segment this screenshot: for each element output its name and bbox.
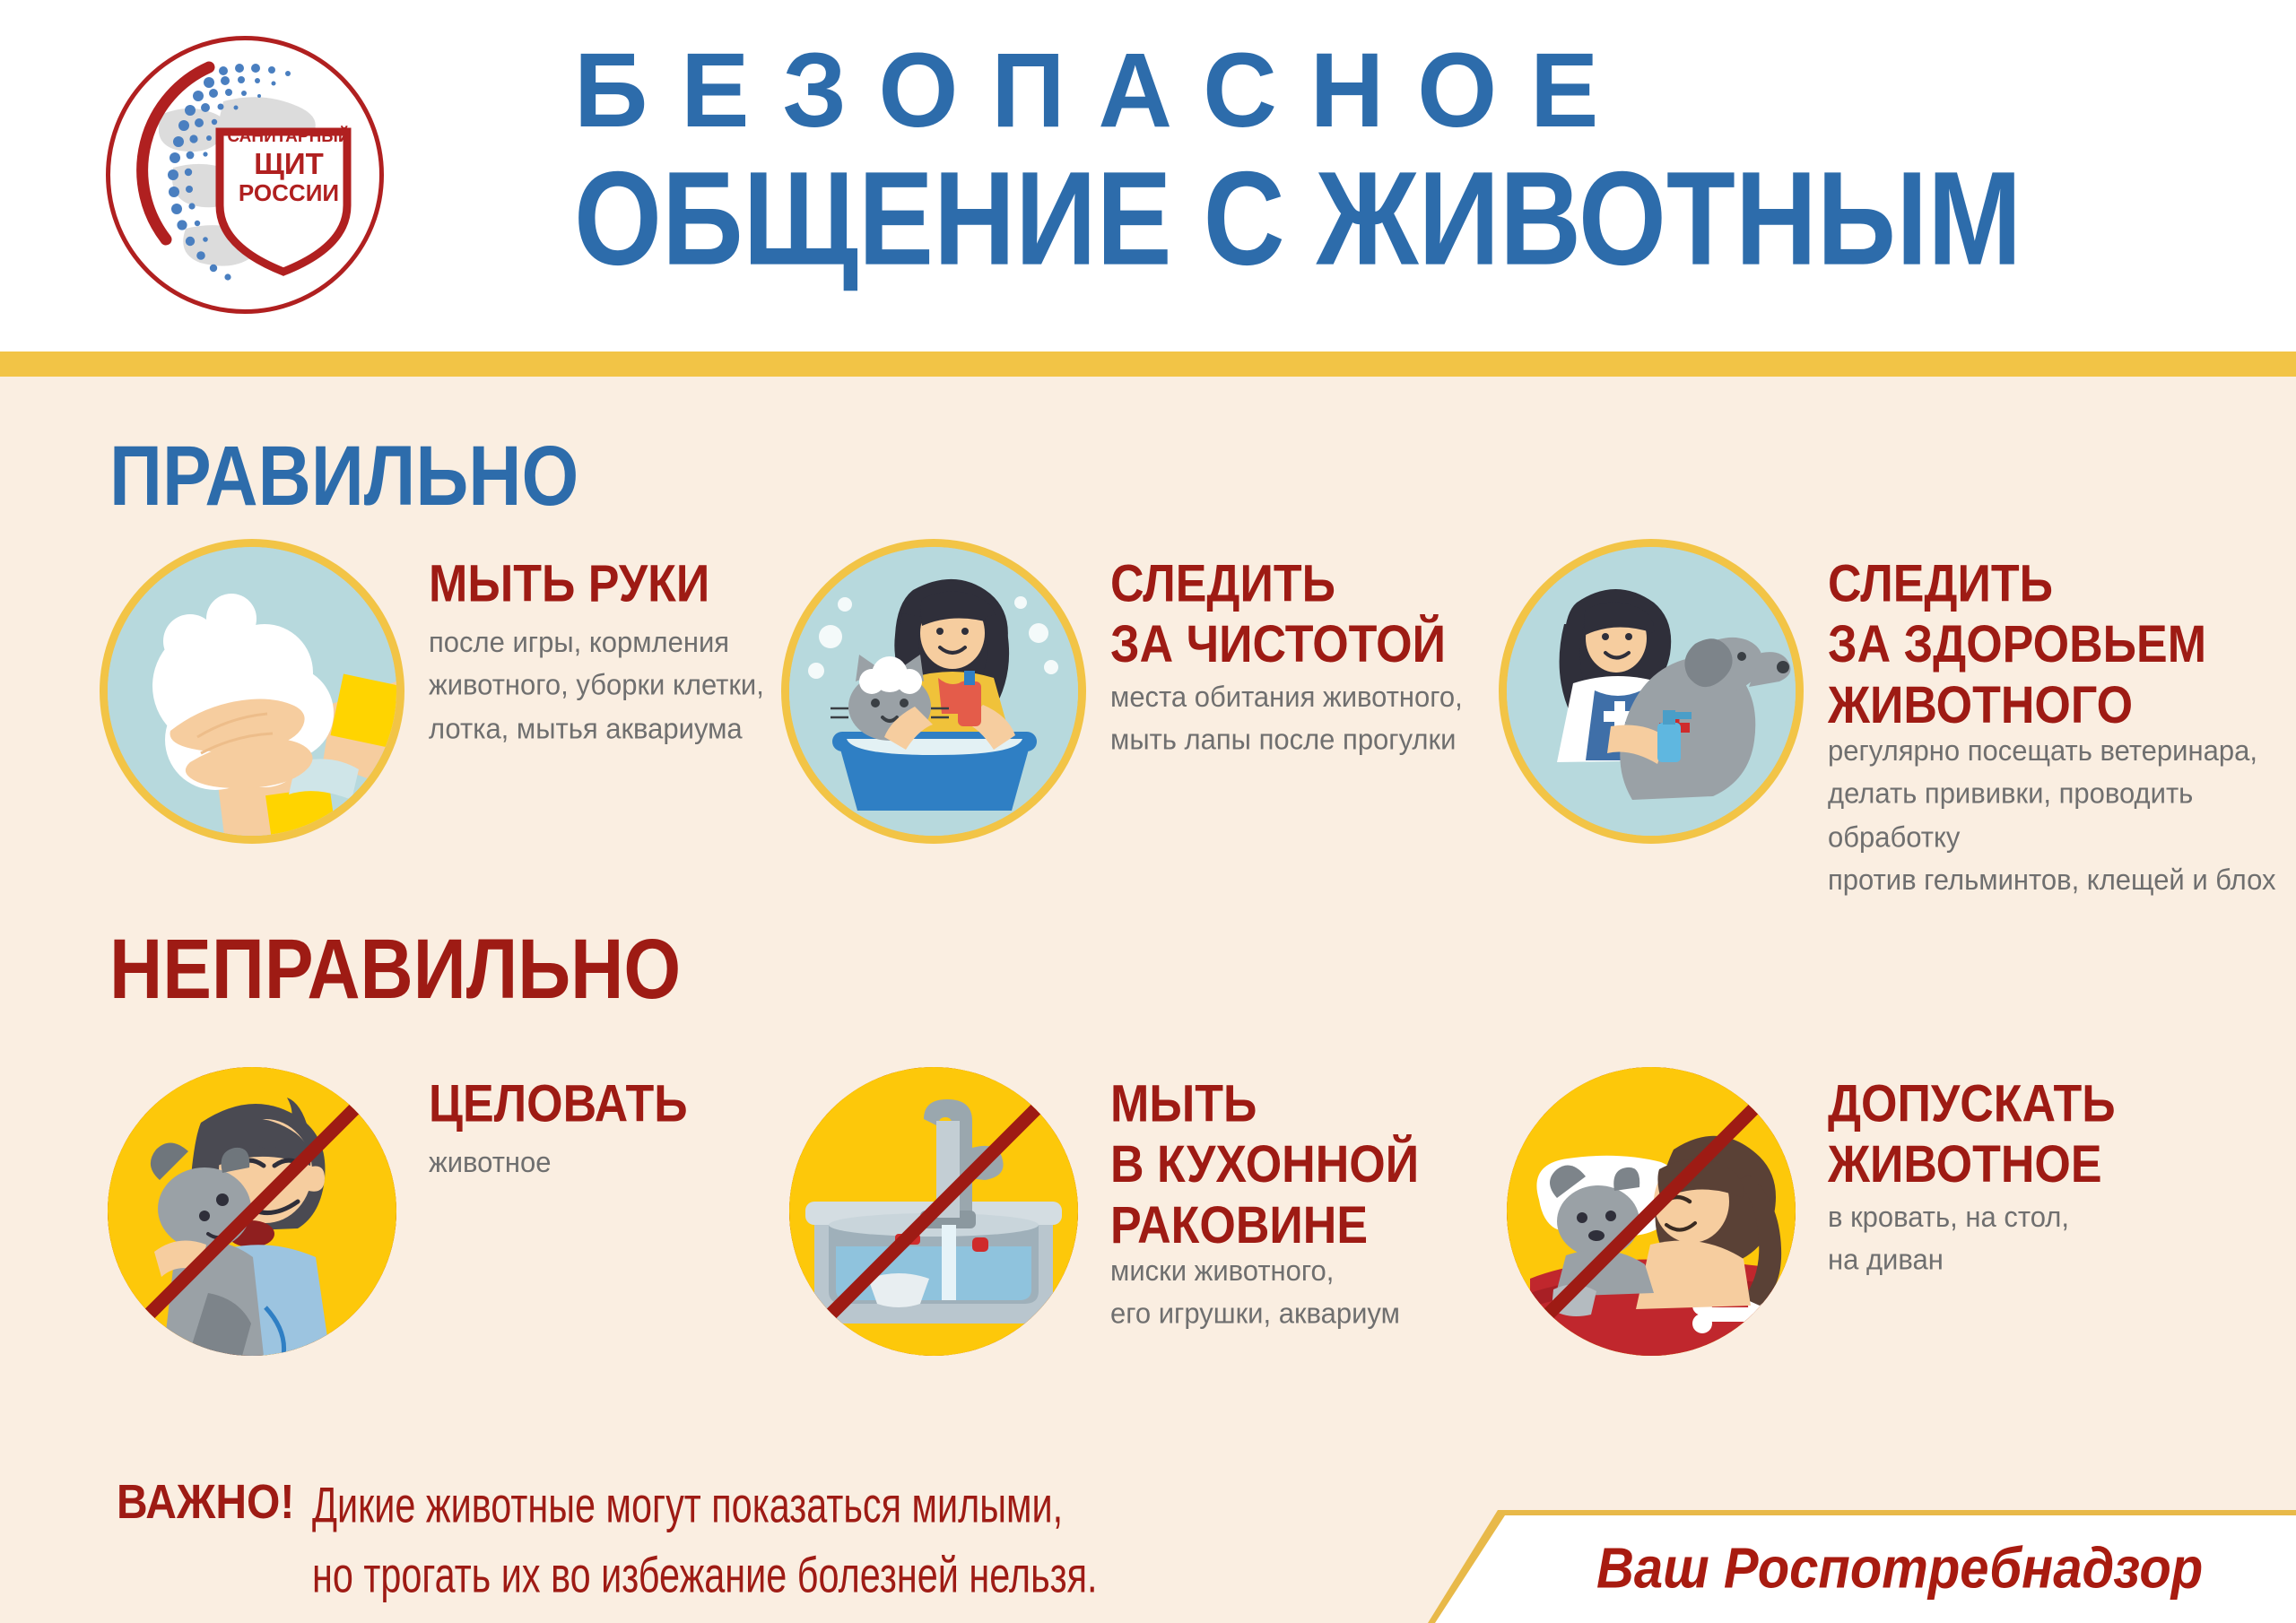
card-title: ЦЕЛОВАТЬ [429, 1074, 805, 1135]
veterinarian-with-dog-icon [1507, 547, 1796, 836]
important-label: ВАЖНО! [117, 1475, 294, 1531]
card-subtitle: места обитания животного, мыть лапы посл… [1110, 675, 1505, 761]
card-title: СЛЕДИТЬ ЗА ЧИСТОТОЙ [1110, 554, 1505, 675]
footer-brand-text: Ваш Роспотребнадзор [1596, 1535, 2203, 1601]
card-title: МЫТЬ РУКИ [429, 554, 823, 615]
washing-hands-with-soap-icon [108, 547, 396, 836]
card-subtitle: в кровать, на стол, на диван [1828, 1195, 2276, 1281]
logo-text-line1: САНИТАРНЫЙ [222, 128, 356, 145]
poster-title: БЕЗОПАСНОЕ ОБЩЕНИЕ С ЖИВОТНЫМ [574, 38, 2206, 267]
card-title: ДОПУСКАТЬ ЖИВОТНОЕ [1828, 1074, 2276, 1195]
important-note: ВАЖНО! Дикие животные могут показаться м… [117, 1471, 1283, 1588]
important-text: Дикие животные могут показаться милыми, … [312, 1471, 1098, 1611]
woman-sleeping-with-dog-prohibited-icon [1507, 1067, 1796, 1356]
logo-circle: САНИТАРНЫЙ ЩИТ РОССИИ [106, 36, 384, 314]
card-animal-health: СЛЕДИТЬ ЗА ЗДОРОВЬЕМ ЖИВОТНОГО регулярно… [1507, 547, 2294, 891]
logo-text-line3: РОССИИ [222, 181, 356, 204]
card-subtitle: регулярно посещать ветеринара, делать пр… [1828, 729, 2294, 901]
card-subtitle: миски животного, его игрушки, аквариум [1110, 1249, 1505, 1335]
card-subtitle: после игры, кормления животного, уборки … [429, 621, 823, 750]
header-divider-band [0, 352, 2296, 377]
woman-bathing-cat-icon [789, 547, 1078, 836]
card-wash-hands: МЫТЬ РУКИ после игры, кормления животног… [108, 547, 823, 836]
section-heading-correct: ПРАВИЛЬНО [109, 429, 578, 525]
card-title: МЫТЬ В КУХОННОЙ РАКОВИНЕ [1110, 1074, 1505, 1256]
logo-container: САНИТАРНЫЙ ЩИТ РОССИИ [106, 36, 375, 305]
logo-text-line2: ЩИТ [222, 149, 356, 178]
card-no-kissing: ЦЕЛОВАТЬ животное [108, 1067, 805, 1356]
card-no-kitchen-sink: МЫТЬ В КУХОННОЙ РАКОВИНЕ миски животного… [789, 1067, 1505, 1356]
section-heading-wrong: НЕПРАВИЛЬНО [109, 922, 681, 1019]
card-title: СЛЕДИТЬ ЗА ЗДОРОВЬЕМ ЖИВОТНОГО [1828, 554, 2294, 736]
man-kissing-dog-prohibited-icon [108, 1067, 396, 1356]
kitchen-sink-faucet-prohibited-icon [789, 1067, 1078, 1356]
poster-title-line1: БЕЗОПАСНОЕ [574, 38, 2157, 143]
poster-header: САНИТАРНЫЙ ЩИТ РОССИИ БЕЗОПАСНОЕ ОБЩЕНИЕ… [0, 0, 2296, 352]
card-no-animal-in-bed: ДОПУСКАТЬ ЖИВОТНОЕ в кровать, на стол, н… [1507, 1067, 2276, 1356]
card-subtitle: животное [429, 1141, 805, 1184]
poster-title-line2: ОБЩЕНИЕ С ЖИВОТНЫМ [574, 149, 2206, 289]
card-keep-clean: СЛЕДИТЬ ЗА ЧИСТОТОЙ места обитания живот… [789, 547, 1505, 836]
